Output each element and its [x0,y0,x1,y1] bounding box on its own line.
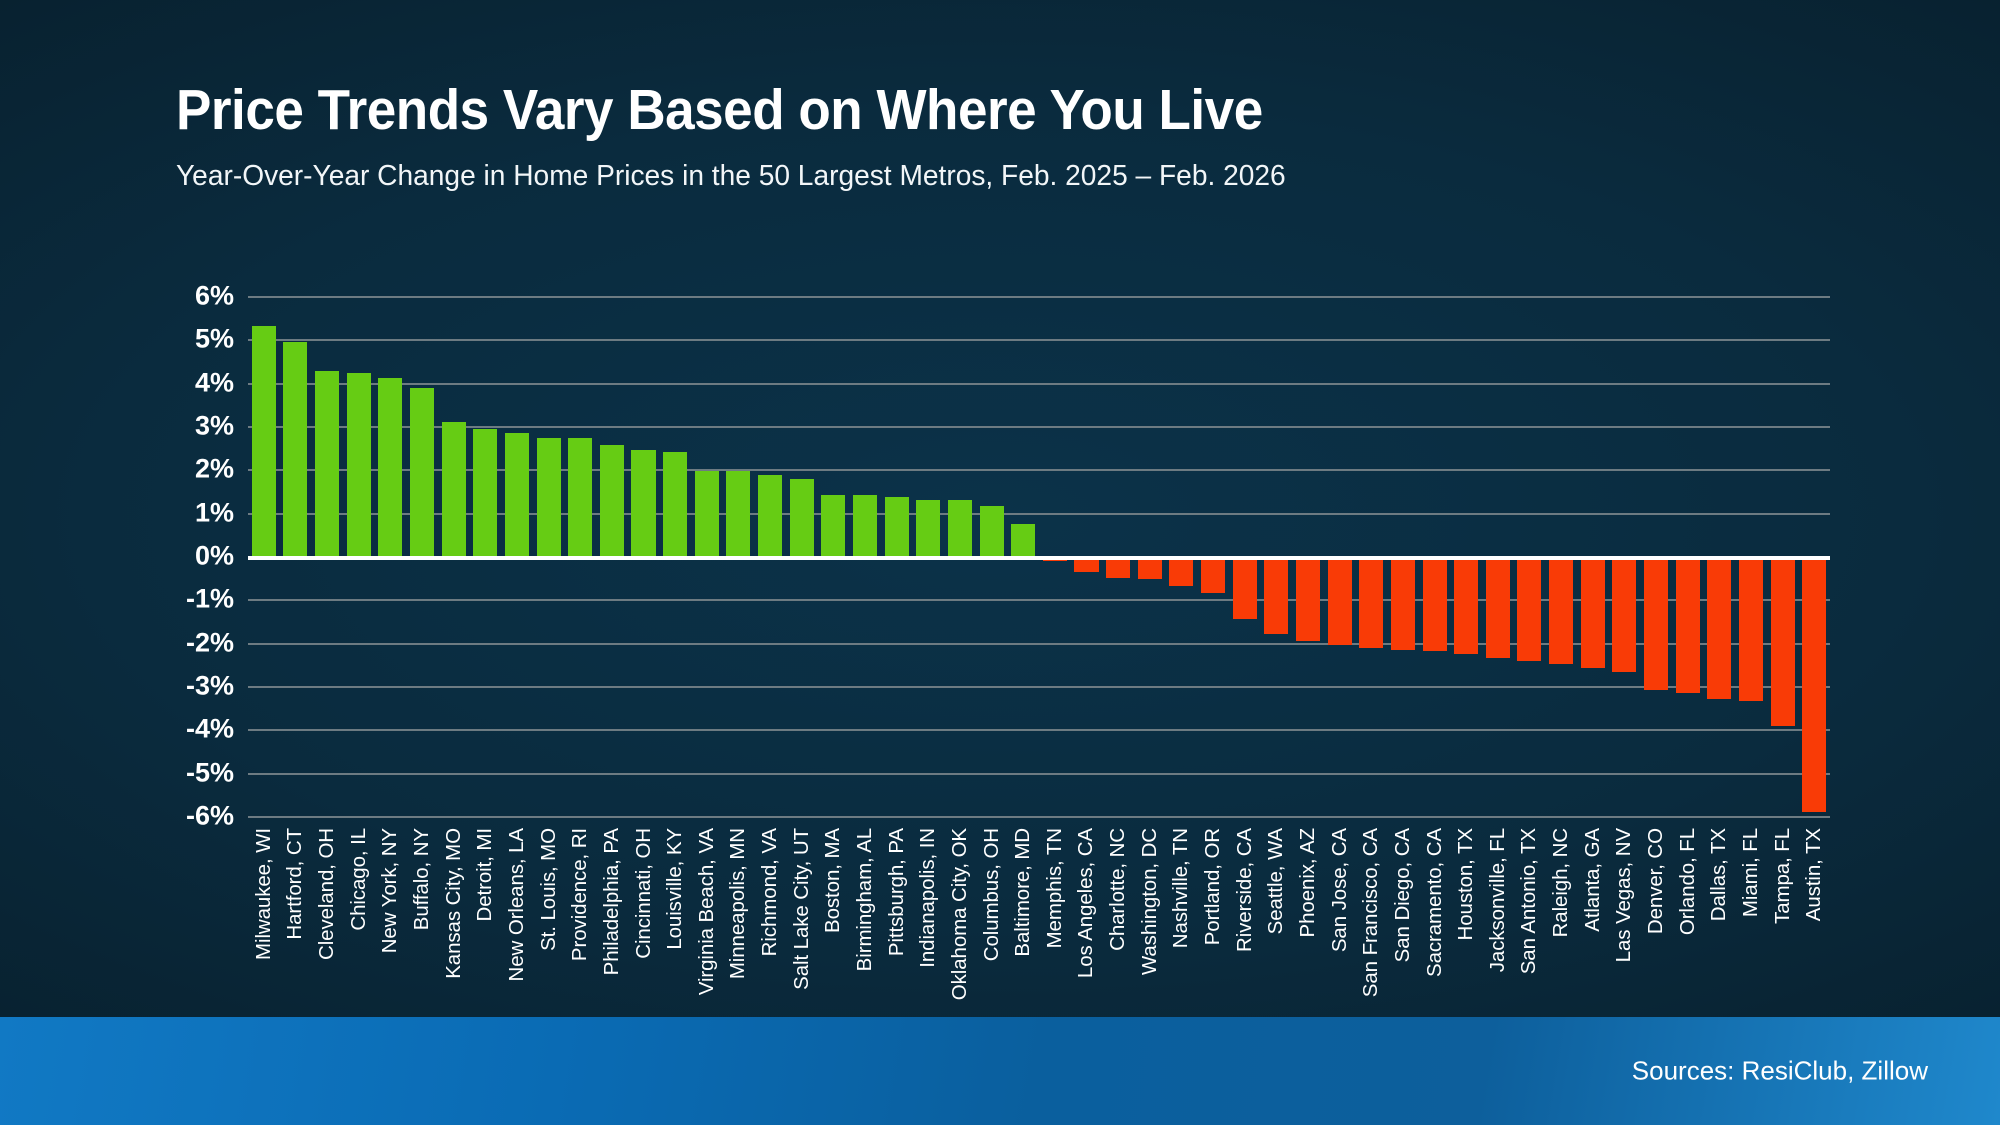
x-axis-tick-label: Kansas City, MO [442,828,466,979]
x-axis-tick-label: Richmond, VA [758,828,782,956]
y-axis-tick-label: 4% [195,367,234,398]
bar-positive[interactable] [885,497,909,556]
x-axis-tick-label: Louisville, KY [663,828,687,950]
bar-negative[interactable] [1201,556,1225,593]
x-axis-tick-label: Baltimore, MD [1011,828,1035,957]
x-axis-tick-label: Austin, TX [1802,828,1826,921]
y-axis-tick-label: 1% [195,497,234,528]
x-axis-tick-label: Boston, MA [821,828,845,933]
sources-label: Sources: ResiClub, Zillow [1632,1056,1928,1087]
bar-positive[interactable] [347,373,371,556]
bar-positive[interactable] [663,452,687,556]
x-axis-tick-label: Atlanta, GA [1581,828,1605,932]
bar-negative[interactable] [1581,556,1605,668]
bar-chart-plot-area: 6%5%4%3%2%1%0%-1%-2%-3%-4%-5%-6% Milwauk… [248,296,1830,816]
x-axis-tick-label: New York, NY [378,828,402,953]
x-axis-tick-label: Philadelphia, PA [600,828,624,975]
x-axis-tick-label: Birmingham, AL [853,828,877,971]
bar-negative[interactable] [1296,556,1320,641]
zero-axis-line [248,556,1830,560]
x-axis-tick-label: Cincinnati, OH [632,828,656,959]
x-axis-tick-label: Las Vegas, NV [1612,828,1636,962]
x-axis-tick-label: Hartford, CT [283,828,307,940]
bar-positive[interactable] [758,475,782,556]
bar-positive[interactable] [695,471,719,556]
x-axis-tick-label: Charlotte, NC [1106,828,1130,951]
bar-negative[interactable] [1707,556,1731,699]
bar-positive[interactable] [283,342,307,556]
bar-positive[interactable] [948,500,972,556]
bar-positive[interactable] [726,471,750,556]
x-axis-tick-label: Nashville, TN [1169,828,1193,948]
x-axis-tick-label: Denver, CO [1644,828,1668,934]
bar-positive[interactable] [821,495,845,556]
x-axis-tick-label: Indianapolis, IN [916,828,940,968]
bar-negative[interactable] [1612,556,1636,672]
x-axis-tick-label: Seattle, WA [1264,828,1288,934]
x-axis-tick-label: Dallas, TX [1707,828,1731,921]
x-axis-tick-label: New Orleans, LA [505,828,529,981]
x-axis-tick-label: Cleveland, OH [315,828,339,960]
bar-negative[interactable] [1549,556,1573,664]
bar-negative[interactable] [1644,556,1668,690]
y-axis-tick-label: 3% [195,411,234,442]
y-axis-tick-label: 5% [195,324,234,355]
y-axis-tick-label: -6% [186,801,234,832]
bar-negative[interactable] [1771,556,1795,726]
x-axis-tick-label: Miami, FL [1739,828,1763,917]
bar-negative[interactable] [1676,556,1700,693]
footer-bar: Sources: ResiClub, Zillow [0,1017,2000,1125]
x-axis-tick-label: Detroit, MI [473,828,497,921]
y-axis-tick-label: -2% [186,627,234,658]
bar-positive[interactable] [568,438,592,556]
y-axis-tick-label: 0% [195,541,234,572]
bar-negative[interactable] [1328,556,1352,645]
x-axis-tick-label: Phoenix, AZ [1296,828,1320,937]
y-axis-tick-label: -5% [186,757,234,788]
x-axis-tick-label: Portland, OR [1201,828,1225,945]
slide-canvas: Price Trends Vary Based on Where You Liv… [0,0,2000,1125]
bar-negative[interactable] [1454,556,1478,654]
bar-negative[interactable] [1802,556,1826,812]
bar-positive[interactable] [410,388,434,556]
bar-positive[interactable] [473,429,497,556]
gridline [248,816,1830,818]
y-axis-tick-label: 2% [195,454,234,485]
x-axis-tick-label: Pittsburgh, PA [885,828,909,956]
bar-positive[interactable] [315,371,339,556]
x-axis-tick-label: Chicago, IL [347,828,371,931]
bar-positive[interactable] [378,378,402,556]
bar-positive[interactable] [537,438,561,556]
bar-negative[interactable] [1264,556,1288,634]
chart-subtitle: Year-Over-Year Change in Home Prices in … [176,160,1844,193]
x-axis-tick-label: Salt Lake City, UT [790,828,814,990]
x-axis-tick-label: Minneapolis, MN [726,828,750,979]
x-axis-tick-label: San Diego, CA [1391,828,1415,962]
x-axis-tick-label: Washington, DC [1138,828,1162,975]
x-axis-tick-label: Buffalo, NY [410,828,434,930]
bar-negative[interactable] [1517,556,1541,661]
bar-negative[interactable] [1486,556,1510,658]
bar-positive[interactable] [980,506,1004,556]
x-axis-tick-label: Riverside, CA [1233,828,1257,952]
x-axis-tick-label: San Francisco, CA [1359,828,1383,997]
bar-negative[interactable] [1169,556,1193,586]
bar-positive[interactable] [252,326,276,556]
x-axis-tick-label: Memphis, TN [1043,828,1067,948]
bar-positive[interactable] [631,450,655,556]
x-axis-tick-label: San Jose, CA [1328,828,1352,952]
x-axis-tick-label: Sacramento, CA [1423,828,1447,977]
x-axis-tick-label: Virginia Beach, VA [695,828,719,995]
x-axis-tick-label: Los Angeles, CA [1074,828,1098,978]
x-axis-tick-label: Raleigh, NC [1549,828,1573,937]
bar-positive[interactable] [442,422,466,556]
y-axis-tick-label: 6% [195,281,234,312]
x-axis-tick-label: St. Louis, MO [537,828,561,951]
x-axis-tick-label: Houston, TX [1454,828,1478,940]
bar-negative[interactable] [1423,556,1447,651]
y-axis-tick-label: -3% [186,671,234,702]
bar-positive[interactable] [505,433,529,556]
x-axis-tick-label: Milwaukee, WI [252,828,276,960]
y-axis-tick-label: -1% [186,584,234,615]
x-axis-tick-label: Tampa, FL [1771,828,1795,924]
bar-negative[interactable] [1391,556,1415,650]
bar-negative[interactable] [1359,556,1383,648]
x-axis-tick-label: Providence, RI [568,828,592,961]
x-axis-tick-label: Columbus, OH [980,828,1004,961]
bar-negative[interactable] [1233,556,1257,619]
x-axis-tick-label: Oklahoma City, OK [948,828,972,1000]
bar-positive[interactable] [600,445,624,556]
bar-positive[interactable] [1011,524,1035,557]
bar-negative[interactable] [1739,556,1763,701]
bar-positive[interactable] [916,500,940,556]
page-title: Price Trends Vary Based on Where You Liv… [176,82,1776,139]
bar-positive[interactable] [853,495,877,556]
x-axis-tick-label: Jacksonville, FL [1486,828,1510,972]
x-axis-tick-label: Orlando, FL [1676,828,1700,935]
bar-positive[interactable] [790,479,814,556]
y-axis-tick-label: -4% [186,714,234,745]
x-axis-tick-label: San Antonio, TX [1517,828,1541,974]
header: Price Trends Vary Based on Where You Liv… [176,82,1896,193]
